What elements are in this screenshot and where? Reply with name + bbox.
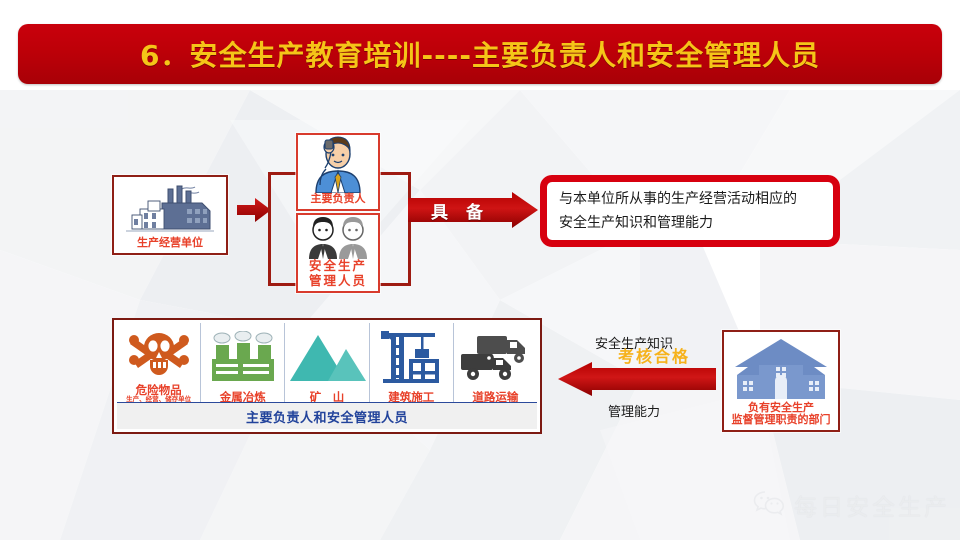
wechat-icon xyxy=(752,489,786,521)
watermark: 每日安全生产 xyxy=(752,488,950,522)
industries-panel: 危险物品 生产、经营、储存单位 xyxy=(112,318,542,434)
principal-person-card[interactable]: 主要负责人 xyxy=(296,133,380,211)
safety-card-inner: 安全生产 管理人员 xyxy=(301,218,375,288)
statement-line-2: 安全生产知识和管理能力 xyxy=(559,211,821,236)
government-house-icon xyxy=(727,335,835,402)
bracket-left xyxy=(268,172,299,286)
industry-cell-smelting[interactable]: 金属冶炼 xyxy=(201,323,285,405)
businessman-phone-icon xyxy=(301,135,375,193)
industry-cell-mine[interactable]: 矿 山 xyxy=(285,323,369,405)
factory-icon xyxy=(117,180,223,237)
possess-arrow-label: 具 备 xyxy=(408,192,512,228)
assessment-arrow-label: 考核合格 xyxy=(592,338,716,372)
page-title: 6．安全生产教育培训----主要负责人和安全管理人员 xyxy=(140,34,820,74)
metal-smelting-factory-icon xyxy=(201,323,284,391)
principal-card-inner: 主要负责人 xyxy=(301,138,375,206)
industries-caption-text: 主要负责人和安全管理人员 xyxy=(246,407,408,426)
statement-box: 与本单位所从事的生产经营活动相应的 安全生产知识和管理能力 xyxy=(540,175,840,247)
two-persons-icon xyxy=(301,217,375,259)
industry-cell-hazardous[interactable]: 危险物品 生产、经营、储存单位 xyxy=(117,323,201,405)
construction-crane-icon xyxy=(370,323,453,391)
assessment-bottom-text: 管理能力 xyxy=(552,406,716,420)
assessment-arrow-group: 安全生产知识 考核合格 管理能力 xyxy=(552,338,716,420)
department-card-inner: 负有安全生产 监督管理职责的部门 xyxy=(727,335,835,427)
safety-staff-label-line2: 管理人员 xyxy=(309,274,367,288)
industries-caption: 主要负责人和安全管理人员 xyxy=(117,402,537,429)
slide-canvas: 6．安全生产教育培训----主要负责人和安全管理人员 xyxy=(0,0,960,540)
department-card[interactable]: 负有安全生产 监督管理职责的部门 xyxy=(722,330,840,432)
entity-card[interactable]: 生产经营单位 xyxy=(112,175,228,255)
industry-cell-transport[interactable]: 道路运输 xyxy=(454,323,537,405)
bracket-right xyxy=(380,172,411,286)
trucks-icon xyxy=(454,323,537,391)
watermark-text: 每日安全生产 xyxy=(794,488,950,522)
mountain-mine-icon xyxy=(285,323,368,391)
entity-card-inner: 生产经营单位 xyxy=(117,180,223,250)
slide-title-banner: 6．安全生产教育培训----主要负责人和安全管理人员 xyxy=(18,24,942,84)
industries-row: 危险物品 生产、经营、储存单位 xyxy=(117,323,537,405)
arrow-right-banner-icon: 具 备 xyxy=(408,192,538,228)
safety-staff-label-line1: 安全生产 xyxy=(309,259,367,273)
principal-person-label: 主要负责人 xyxy=(311,193,366,206)
department-label-line2: 监督管理职责的部门 xyxy=(732,414,831,427)
industry-cell-construction[interactable]: 建筑施工 xyxy=(370,323,454,405)
skull-crossbones-icon xyxy=(117,323,200,384)
safety-staff-card[interactable]: 安全生产 管理人员 xyxy=(296,213,380,293)
statement-line-1: 与本单位所从事的生产经营活动相应的 xyxy=(559,187,821,212)
entity-label: 生产经营单位 xyxy=(137,237,203,250)
